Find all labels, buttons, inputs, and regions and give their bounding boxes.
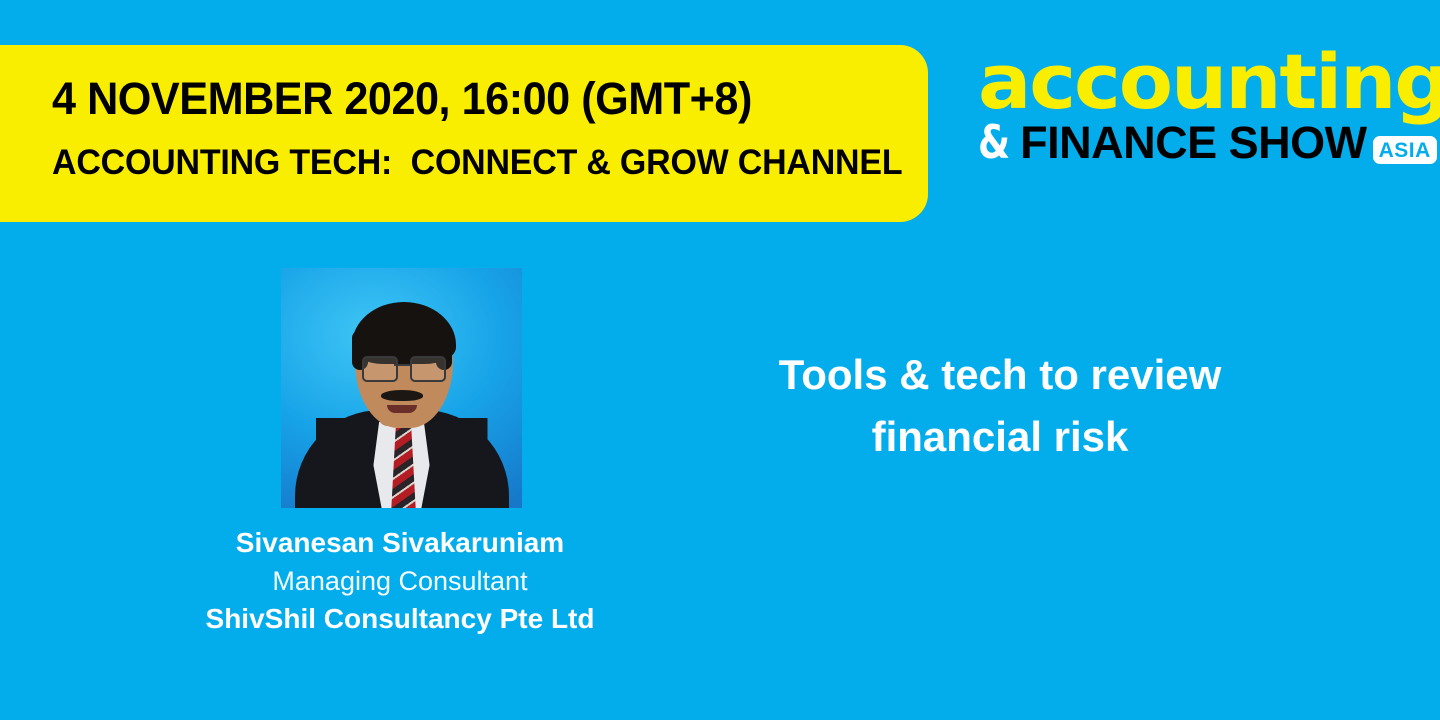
logo-region-badge-asia: ASIA bbox=[1373, 136, 1437, 164]
logo-ampersand: & bbox=[978, 119, 1010, 165]
eyeglass-lens-left bbox=[362, 356, 398, 382]
session-title-line-1: Tools & tech to review bbox=[700, 344, 1300, 406]
event-banner: 4 NOVEMBER 2020, 16:00 (GMT+8) ACCOUNTIN… bbox=[0, 45, 928, 222]
logo-word-finance-show: FINANCE SHOW bbox=[1020, 120, 1367, 165]
hair-shape bbox=[352, 302, 456, 364]
speaker-photo bbox=[281, 268, 522, 508]
logo-word-accounting: accounting bbox=[978, 44, 1440, 120]
webinar-promo-slide: 4 NOVEMBER 2020, 16:00 (GMT+8) ACCOUNTIN… bbox=[0, 0, 1440, 720]
eyeglass-lens-right bbox=[410, 356, 446, 382]
event-date-time: 4 NOVEMBER 2020, 16:00 (GMT+8) bbox=[52, 73, 752, 125]
session-title: Tools & tech to review financial risk bbox=[700, 344, 1300, 468]
mustache-shape bbox=[381, 390, 423, 401]
event-channel: ACCOUNTING TECH: CONNECT & GROW CHANNEL bbox=[52, 143, 902, 183]
speaker-info: Sivanesan Sivakaruniam Managing Consulta… bbox=[120, 524, 680, 638]
accounting-finance-show-logo: accounting & FINANCE SHOW ASIA bbox=[978, 44, 1414, 174]
speaker-name: Sivanesan Sivakaruniam bbox=[120, 524, 680, 562]
mouth-shape bbox=[387, 405, 417, 413]
speaker-company: ShivShil Consultancy Pte Ltd bbox=[120, 600, 680, 638]
session-title-line-2: financial risk bbox=[700, 406, 1300, 468]
logo-second-line: & FINANCE SHOW ASIA bbox=[978, 118, 1437, 166]
eyeglass-bridge bbox=[394, 364, 410, 366]
speaker-role: Managing Consultant bbox=[120, 562, 680, 600]
